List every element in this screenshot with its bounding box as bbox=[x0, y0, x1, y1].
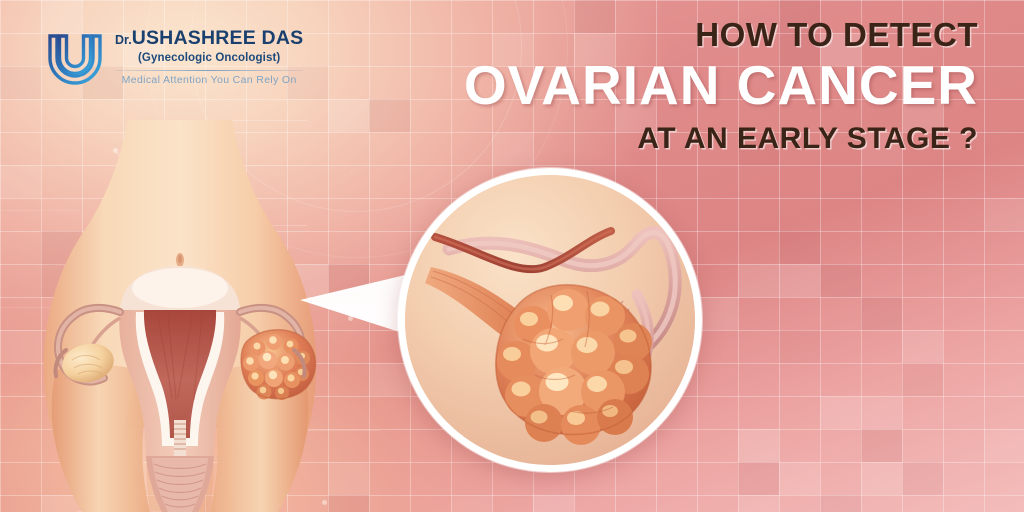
ovarian-cancer-awareness-banner: Dr.USHASHREE DAS (Gynecologic Oncologist… bbox=[0, 0, 1024, 512]
logo-tagline: Medical Attention You Can Rely On bbox=[115, 75, 303, 86]
headline-line-3: AT AN EARLY STAGE ? bbox=[464, 122, 978, 157]
logo-divider bbox=[115, 70, 303, 71]
headline-block: HOW TO DETECT OVARIAN CANCER AT AN EARLY… bbox=[464, 18, 978, 157]
headline-line-1: HOW TO DETECT bbox=[464, 18, 978, 53]
logo-text-block: Dr.USHASHREE DAS (Gynecologic Oncologist… bbox=[115, 29, 303, 86]
doctor-credential: (Gynecologic Oncologist) bbox=[115, 53, 303, 65]
magnified-ovarian-tumor-view bbox=[398, 168, 702, 472]
headline-line-2: OVARIAN CANCER bbox=[464, 55, 978, 117]
doctor-prefix: Dr. bbox=[115, 33, 132, 47]
doctor-name-text: USHASHREE DAS bbox=[132, 27, 304, 49]
doctor-name: Dr.USHASHREE DAS bbox=[115, 29, 303, 49]
brand-logo[interactable]: Dr.USHASHREE DAS (Gynecologic Oncologist… bbox=[46, 26, 303, 88]
nested-u-monogram-icon bbox=[46, 26, 104, 88]
